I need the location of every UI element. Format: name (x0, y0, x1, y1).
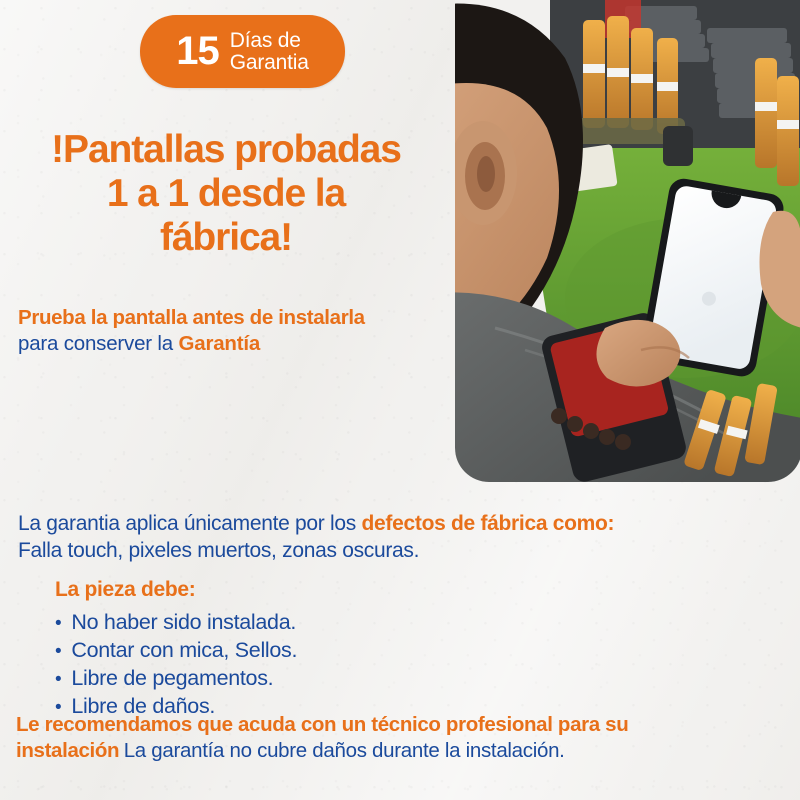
list-item-label: Contar con mica, Sellos. (71, 636, 297, 664)
piece-requirements-title: La pieza debe: (55, 578, 196, 602)
list-item: • No haber sido instalada. (55, 608, 475, 636)
warranty-line-1: La garantia aplica únicamente por los de… (18, 510, 788, 537)
warranty-days-badge: 15 Días de Garantia (140, 15, 345, 88)
list-item: • Contar con mica, Sellos. (55, 636, 475, 664)
list-item: • Libre de pegamentos. (55, 664, 475, 692)
list-item-label: Libre de pegamentos. (71, 664, 273, 692)
subheading-line-1: Prueba la pantalla antes de instalarla (18, 305, 458, 331)
installation-recommendation: Le recomendamos que acuda con un técnico… (16, 712, 791, 764)
subheading-line-2-highlight: Garantía (179, 332, 261, 355)
warranty-scope-text: La garantia aplica únicamente por los de… (18, 510, 788, 565)
bullet-icon: • (55, 670, 61, 689)
badge-label-line2: Garantia (230, 52, 309, 73)
headline-line-2: 1 a 1 desde la (0, 172, 452, 216)
footer-line-2-rest: La garantía no cubre daños durante la in… (124, 739, 565, 762)
photo-illustration (455, 0, 800, 482)
warranty-line-1-highlight: defectos de fábrica como: (362, 512, 615, 535)
bullet-icon: • (55, 642, 61, 661)
headline-line-3: fábrica! (0, 216, 452, 260)
warranty-line-2: Falla touch, pixeles muertos, zonas oscu… (18, 537, 788, 564)
badge-label: Días de Garantia (230, 30, 309, 73)
technician-testing-photo (455, 0, 800, 482)
bullet-icon: • (55, 614, 61, 633)
badge-days-number: 15 (176, 31, 219, 71)
page-title: !Pantallas probadas 1 a 1 desde la fábri… (0, 128, 452, 260)
list-item-label: No haber sido instalada. (71, 608, 296, 636)
subheading-line-2-prefix: para conserver la (18, 332, 173, 355)
warranty-line-1-prefix: La garantia aplica únicamente por los (18, 512, 356, 535)
subheading-block: Prueba la pantalla antes de instalarla p… (18, 305, 458, 357)
footer-line-1: Le recomendamos que acuda con un técnico… (16, 712, 791, 738)
footer-line-2-highlight: instalación (16, 739, 119, 762)
footer-line-2: instalación La garantía no cubre daños d… (16, 738, 791, 764)
piece-requirements-list: • No haber sido instalada. • Contar con … (55, 608, 475, 721)
subheading-line-2: para conserver la Garantía (18, 331, 458, 357)
headline-line-1: !Pantallas probadas (0, 128, 452, 172)
badge-label-line1: Días de (230, 30, 309, 51)
promo-graphic: 15 Días de Garantia !Pantallas probadas … (0, 0, 800, 800)
